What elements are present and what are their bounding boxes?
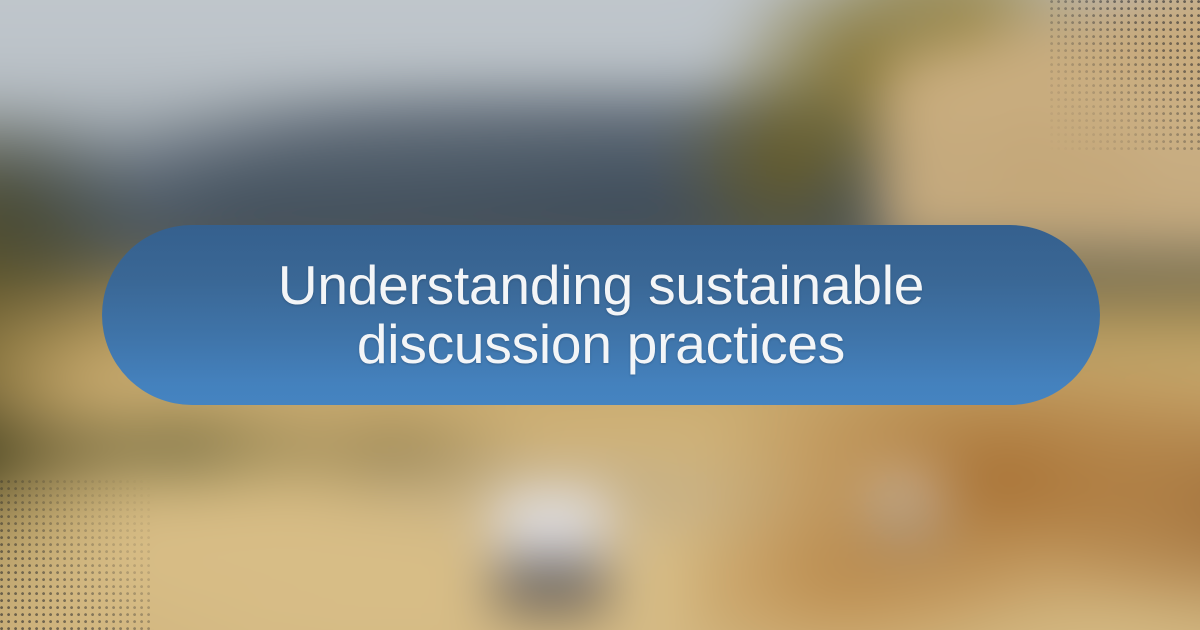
banner-canvas: Understanding sustainable discussion pra… xyxy=(0,0,1200,630)
headline-text: Understanding sustainable discussion pra… xyxy=(148,256,1054,375)
headline-pill: Understanding sustainable discussion pra… xyxy=(102,225,1100,405)
background-wooden-hut-layer xyxy=(880,0,1200,251)
background-vehicle-shape xyxy=(495,490,607,617)
background-secondary-vehicle-shape xyxy=(866,474,943,561)
background-sandy-track-layer xyxy=(0,442,880,630)
